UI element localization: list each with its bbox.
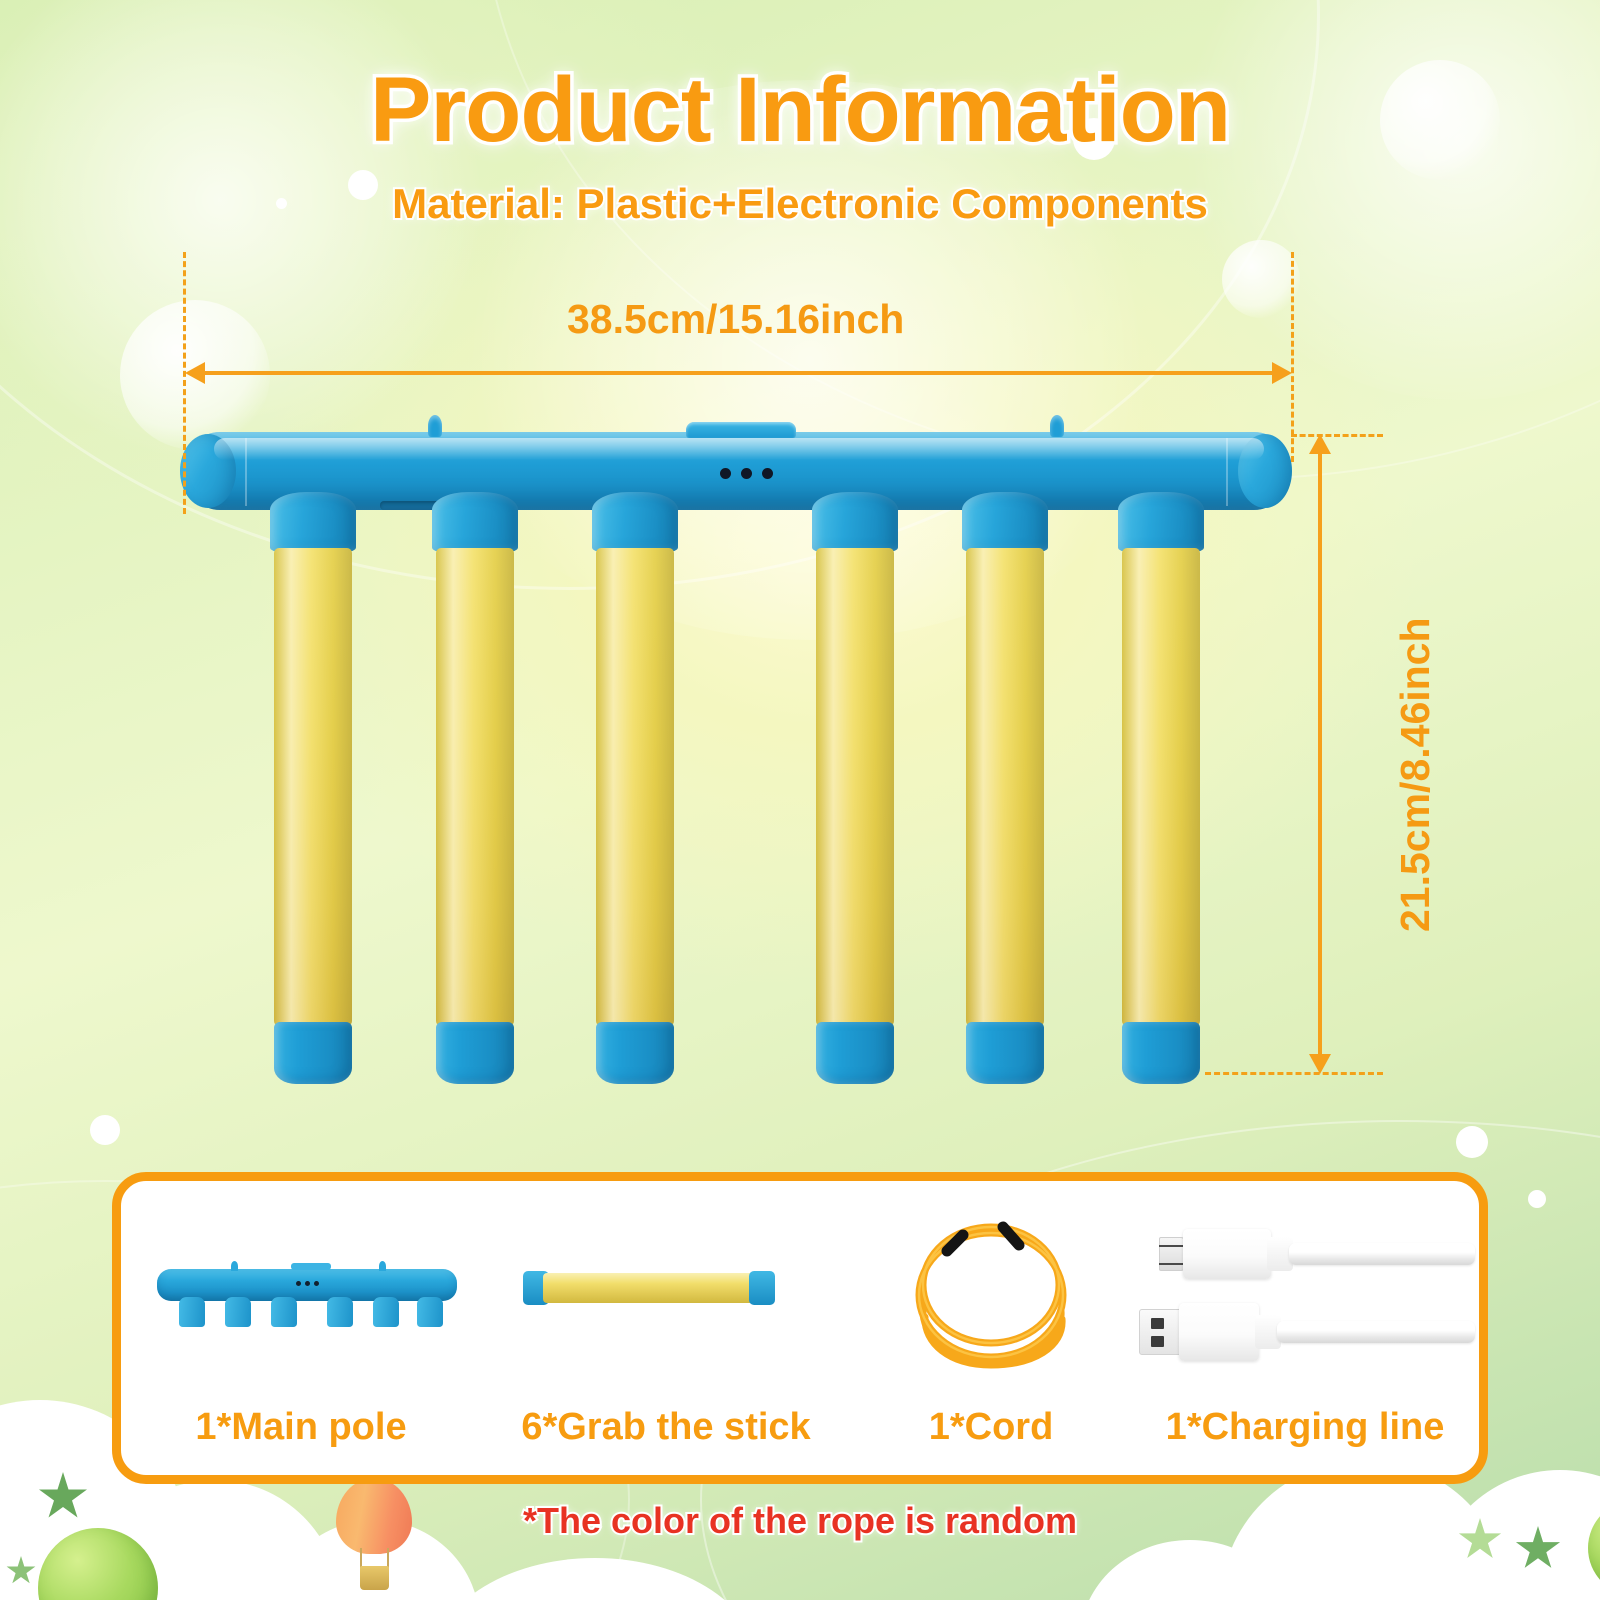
height-extension-line-bottom <box>1205 1072 1383 1075</box>
micro-usb-cable <box>1289 1243 1475 1265</box>
micro-usb-contact-2 <box>1159 1263 1185 1265</box>
mini-led-2 <box>305 1281 310 1286</box>
part-item-main-pole: 1*Main pole <box>121 1181 481 1475</box>
mini-pole-nub-right <box>379 1261 386 1271</box>
height-arrow-head-bottom <box>1309 1054 1331 1074</box>
height-extension-line-top <box>1291 434 1383 437</box>
width-arrow-head-left <box>185 362 205 384</box>
part-label-cord: 1*Cord <box>851 1406 1131 1449</box>
micro-usb-housing <box>1183 1229 1271 1279</box>
width-extension-line-right <box>1291 252 1294 462</box>
part-label-grab-stick: 6*Grab the stick <box>481 1406 851 1449</box>
height-arrow-head-top <box>1309 434 1331 454</box>
cord-thumbnail <box>851 1199 1131 1375</box>
page-subtitle: Material: Plastic+Electronic Components <box>0 180 1600 228</box>
height-dimension-label: 21.5cm/8.46inch <box>1392 617 1439 932</box>
width-arrow-line <box>198 371 1276 375</box>
part-item-grab-stick: 6*Grab the stick <box>481 1181 851 1475</box>
part-item-charging-line: 1*Charging line <box>1131 1181 1479 1475</box>
height-arrow-line <box>1318 448 1322 1060</box>
mini-pole-nub-left <box>231 1261 238 1271</box>
mini-pole-button <box>291 1263 331 1270</box>
mini-socket-2 <box>225 1297 251 1327</box>
part-label-main-pole: 1*Main pole <box>121 1406 481 1449</box>
width-arrow-head-right <box>1272 362 1292 384</box>
main-pole-thumbnail <box>121 1243 481 1353</box>
parts-list-panel: 1*Main pole 6*Grab the stick <box>112 1172 1488 1484</box>
page-title: Product Information <box>0 58 1600 163</box>
mini-stick-cap-right <box>749 1271 775 1305</box>
charging-line-thumbnail <box>1131 1205 1479 1381</box>
usb-a-housing <box>1179 1303 1259 1361</box>
usb-a-cable <box>1277 1321 1475 1343</box>
part-label-charging-line: 1*Charging line <box>1131 1406 1479 1449</box>
micro-usb-plug-metal <box>1159 1237 1185 1271</box>
cord-illustration <box>851 1199 1131 1375</box>
mini-socket-6 <box>417 1297 443 1327</box>
micro-usb-contact-1 <box>1159 1245 1185 1247</box>
part-item-cord: 1*Cord <box>851 1181 1131 1475</box>
mini-socket-4 <box>327 1297 353 1327</box>
usb-a-contact-1 <box>1151 1318 1164 1329</box>
mini-socket-1 <box>179 1297 205 1327</box>
mini-socket-3 <box>271 1297 297 1327</box>
mini-socket-5 <box>373 1297 399 1327</box>
usb-a-plug-metal <box>1139 1309 1183 1355</box>
mini-led-3 <box>314 1281 319 1286</box>
usb-a-contact-2 <box>1151 1336 1164 1347</box>
rope-color-disclaimer: *The color of the rope is random <box>0 1500 1600 1542</box>
grab-stick-thumbnail <box>481 1243 851 1353</box>
width-dimension-label: 38.5cm/15.16inch <box>567 296 904 343</box>
mini-led-1 <box>296 1281 301 1286</box>
mini-stick-body <box>543 1273 755 1303</box>
